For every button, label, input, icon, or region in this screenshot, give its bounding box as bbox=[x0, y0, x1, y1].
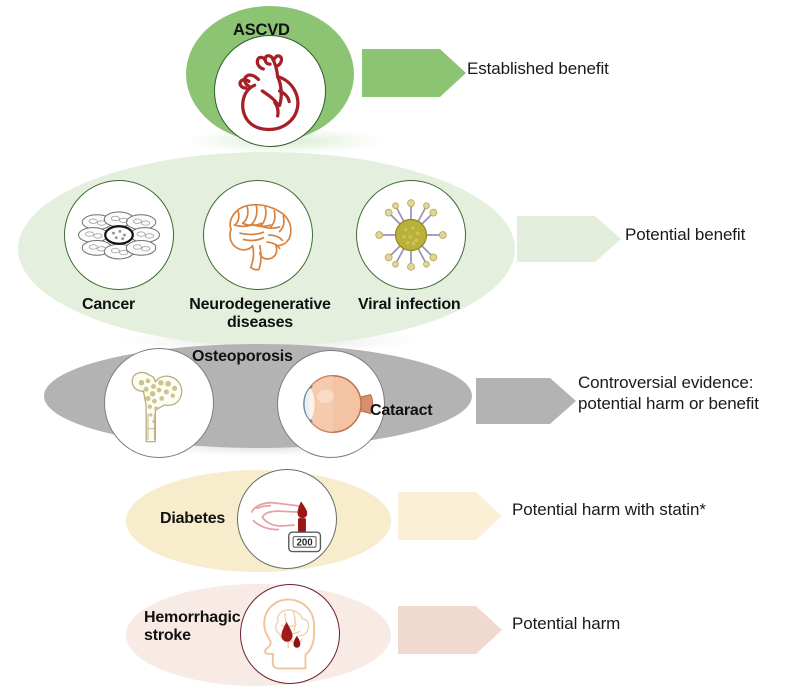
item-label-ascvd: ASCVD bbox=[233, 21, 290, 39]
glucometer-icon: 200 bbox=[243, 475, 331, 563]
icon-bubble-cancer[interactable] bbox=[64, 180, 174, 290]
legend-potential-harm-with-statin: Potential harm with statin* bbox=[512, 499, 706, 520]
item-label-osteoporosis: Osteoporosis bbox=[192, 348, 293, 366]
legend-established-benefit: Established benefit bbox=[467, 58, 609, 79]
icon-bubble-neurodegenerative[interactable] bbox=[203, 180, 313, 290]
legend-potential-harm: Potential harm bbox=[512, 613, 620, 634]
cancer-cells-icon bbox=[73, 189, 165, 281]
legend-controversial-evidence: Controversial evidence: potential harm o… bbox=[578, 372, 759, 415]
brain-icon bbox=[213, 190, 303, 280]
heart-icon bbox=[222, 43, 318, 139]
icon-bubble-ascvd[interactable] bbox=[214, 35, 326, 147]
item-label-cancer: Cancer bbox=[82, 296, 135, 314]
bone-icon bbox=[113, 357, 205, 449]
arrow-established-benefit bbox=[362, 47, 466, 99]
eye-icon bbox=[284, 357, 378, 451]
icon-bubble-cataract[interactable] bbox=[277, 350, 385, 458]
item-label-diabetes: Diabetes bbox=[160, 510, 225, 528]
icon-bubble-viral-infection[interactable] bbox=[356, 180, 466, 290]
item-label-neurodegenerative: Neurodegenerative diseases bbox=[186, 296, 334, 332]
arrow-potential-benefit bbox=[517, 214, 621, 264]
glucose-reading: 200 bbox=[297, 537, 313, 548]
item-label-viral-infection: Viral infection bbox=[358, 296, 461, 314]
row-potential-benefit: Cancer bbox=[0, 146, 800, 336]
arrow-potential-harm bbox=[398, 604, 502, 656]
virus-icon bbox=[368, 192, 454, 278]
row-potential-harm-with-statin: 200 Diabetes Potential harm with statin* bbox=[0, 466, 800, 576]
row-controversial-evidence: Osteoporosis Cataract Controversial evid… bbox=[0, 336, 800, 466]
item-label-hemorrhagic-stroke: Hemorrhagic stroke bbox=[144, 609, 241, 645]
arrow-controversial-evidence bbox=[476, 376, 576, 426]
icon-bubble-diabetes[interactable]: 200 bbox=[237, 469, 337, 569]
row-potential-harm: Hemorrhagic stroke Potential harm bbox=[0, 576, 800, 694]
row-established-benefit: ASCVD Established benefit bbox=[0, 0, 800, 150]
head-bleed-icon bbox=[247, 591, 333, 677]
legend-potential-benefit: Potential benefit bbox=[625, 224, 745, 245]
statin-effects-diagram: ASCVD Established benefit bbox=[0, 0, 800, 694]
item-label-cataract: Cataract bbox=[370, 402, 432, 420]
icon-bubble-hemorrhagic-stroke[interactable] bbox=[240, 584, 340, 684]
arrow-potential-harm-with-statin bbox=[398, 490, 502, 542]
